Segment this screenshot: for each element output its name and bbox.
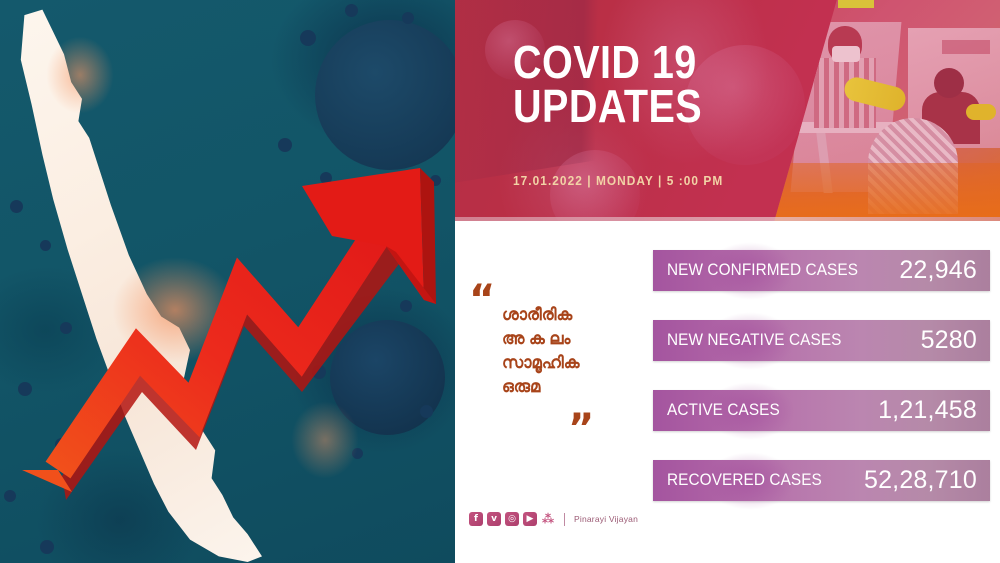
banner-title-line2: UPDATES <box>513 84 788 128</box>
stat-value: 1,21,458 <box>878 396 977 425</box>
stat-label: NEW NEGATIVE CASES <box>667 331 841 350</box>
quote-open-icon: “ <box>469 288 495 312</box>
photo-banner-strip <box>838 0 874 8</box>
slogan-line-1: ശാരീരിക <box>502 304 627 328</box>
rising-arrow-graphic <box>0 0 455 563</box>
header-banner: COVID 19 UPDATES 17.01.2022 | MONDAY | 5… <box>455 0 1000 221</box>
banner-title: COVID 19 UPDATES <box>513 40 788 128</box>
photo-second-worker-head <box>934 68 964 98</box>
stat-row-recovered-cases[interactable]: RECOVERED CASES 52,28,710 <box>653 460 990 501</box>
stat-value: 52,28,710 <box>864 466 977 495</box>
slogan-line-4: ഒരുമ <box>502 376 627 400</box>
banner-date-time: 17.01.2022 | MONDAY | 5 :00 PM <box>513 174 723 188</box>
stat-row-active-cases[interactable]: ACTIVE CASES 1,21,458 <box>653 390 990 431</box>
photo-face-mask <box>832 46 860 62</box>
instagram-icon[interactable]: ◎ <box>505 512 519 526</box>
stat-row-new-negative-cases[interactable]: NEW NEGATIVE CASES 5280 <box>653 320 990 361</box>
stat-label: RECOVERED CASES <box>667 471 822 490</box>
banner-title-line1: COVID 19 <box>513 40 788 84</box>
social-links-row: f ᴠ ◎ ▶ ⁂ Pinarayi Vijayan <box>469 512 638 526</box>
photo-orange-overlay <box>760 163 1000 221</box>
statistics-list: NEW CONFIRMED CASES 22,946 NEW NEGATIVE … <box>653 250 990 501</box>
facebook-icon[interactable]: f <box>469 512 483 526</box>
slogan-line-3: സാമൂഹിക <box>502 352 627 376</box>
info-panel: COVID 19 UPDATES 17.01.2022 | MONDAY | 5… <box>455 0 1000 563</box>
photo-booth-label <box>942 40 990 54</box>
banner-divider <box>455 217 1000 221</box>
slogan-text: ശാരീരിക അ ക ലം സാമൂഹിക ഒരുമ <box>502 304 627 400</box>
kerala-map-illustration <box>0 0 455 563</box>
youtube-icon[interactable]: ▶ <box>523 512 537 526</box>
stat-value: 5280 <box>921 326 977 355</box>
twitter-icon[interactable]: ᴠ <box>487 512 501 526</box>
social-handle: Pinarayi Vijayan <box>574 514 638 524</box>
stat-value: 22,946 <box>899 256 977 285</box>
stat-label: ACTIVE CASES <box>667 401 780 420</box>
covid-update-poster: COVID 19 UPDATES 17.01.2022 | MONDAY | 5… <box>0 0 1000 563</box>
slogan-line-2: അ ക ലം <box>502 328 627 352</box>
social-divider <box>564 513 565 526</box>
koo-icon[interactable]: ⁂ <box>541 512 555 526</box>
stat-label: NEW CONFIRMED CASES <box>667 261 858 280</box>
stat-row-new-confirmed-cases[interactable]: NEW CONFIRMED CASES 22,946 <box>653 250 990 291</box>
photo-yellow-glove <box>966 104 996 120</box>
quote-close-icon: ” <box>568 417 594 441</box>
